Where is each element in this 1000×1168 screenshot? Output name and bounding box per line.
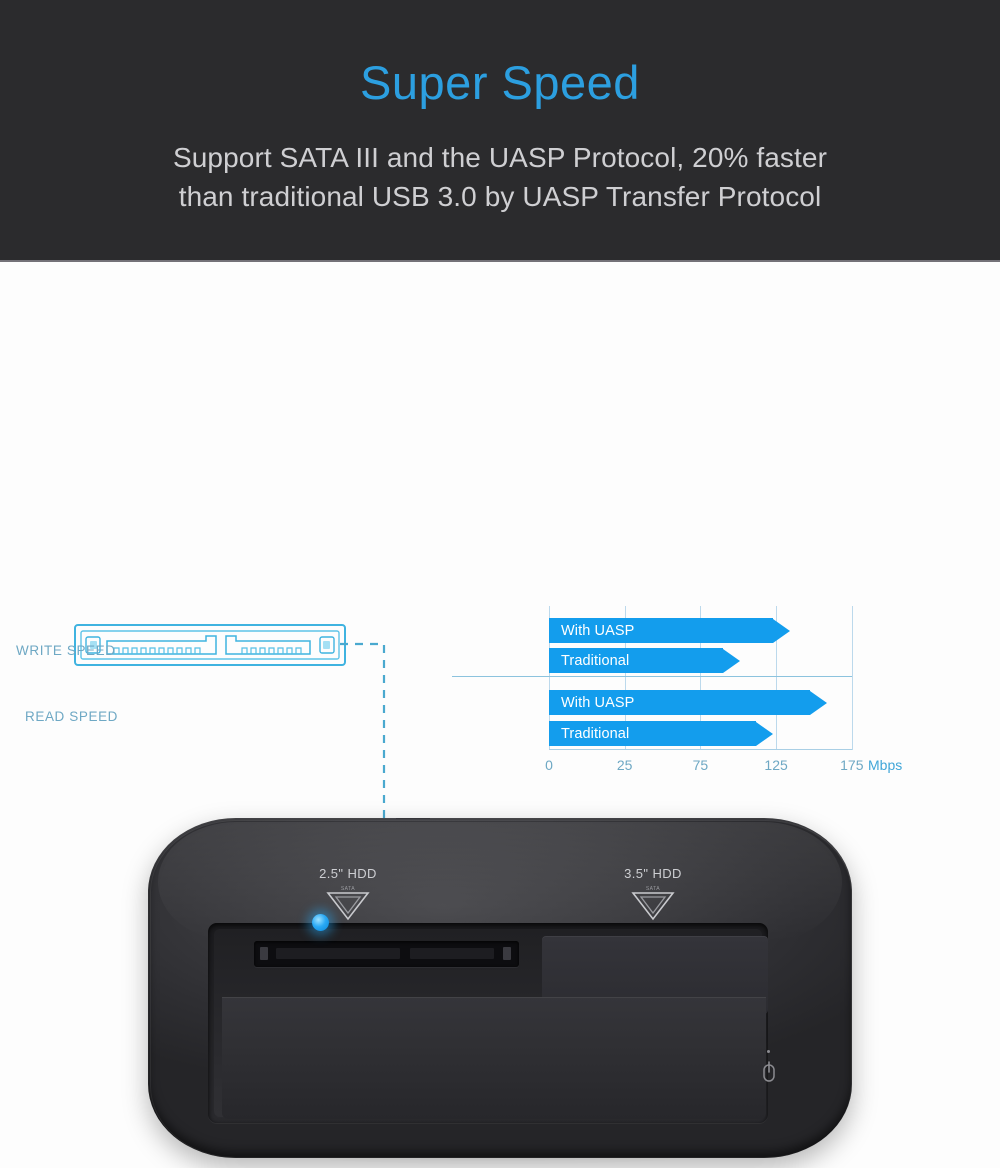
led-indicator [767,1050,770,1053]
x-tick-25: 25 [617,757,633,773]
bar-label-read-traditional: Traditional [549,726,629,742]
bar-tip-write-traditional [723,649,740,673]
x-tick-125: 125 [764,757,787,773]
hdd-docking-station: 2.5" HDD SATA 3.5" HDD SATA [148,818,852,1168]
insert-direction-triangle-icon-3-5: SATA [625,882,681,922]
svg-text:SATA: SATA [341,886,355,892]
chart-group-separator [452,676,852,677]
bar-tip-read-with-uasp [810,691,827,715]
bar-read-with-uasp: With UASP [549,690,827,715]
page-subtitle: Support SATA III and the UASP Protocol, … [90,138,910,216]
chart-category-read-speed: READ SPEED [25,709,118,724]
dock-rear-notch [396,818,430,819]
bar-label-read-with-uasp: With UASP [549,695,634,711]
power-button-icon[interactable] [761,1058,777,1086]
page-title: Super Speed [0,55,1000,110]
bar-label-write-traditional: Traditional [549,653,629,669]
x-tick-75: 75 [693,757,709,773]
subtitle-line-2: than traditional USB 3.0 by UASP Transfe… [90,177,910,216]
sata-connection-indicator-dot [312,914,329,931]
x-axis-unit-label: Mbps [868,757,902,773]
bar-label-write-with-uasp: With UASP [549,623,634,639]
sata-slot-power-segment [276,948,400,959]
svg-text:SATA: SATA [646,886,660,892]
content-area: WRITE SPEED READ SPEED With UASP Traditi… [0,262,1000,1000]
bar-tip-write-with-uasp [773,619,790,643]
bar-write-traditional: Traditional [549,648,740,673]
bar-write-with-uasp: With UASP [549,618,790,643]
label-3-5-hdd: 3.5" HDD [608,866,698,881]
sata-slot-pin-right [503,947,511,960]
insert-direction-triangle-icon-2-5: SATA [320,882,376,922]
gridline-175 [852,606,853,750]
chart-category-write-speed: WRITE SPEED [16,643,116,658]
subtitle-line-1: Support SATA III and the UASP Protocol, … [90,138,910,177]
sata-slot-pin-left [260,947,268,960]
x-tick-0: 0 [545,757,553,773]
chart-x-axis [549,749,852,750]
bar-read-traditional: Traditional [549,721,773,746]
dock-body: 2.5" HDD SATA 3.5" HDD SATA [148,818,852,1158]
header-banner: Super Speed Support SATA III and the UAS… [0,0,1000,262]
product-feature-image: Super Speed Support SATA III and the UAS… [0,0,1000,1000]
bar-tip-read-traditional [756,722,773,746]
tray-front-panel [222,997,766,1119]
hdd-tray[interactable] [208,923,768,1123]
hdd-tray-recess [214,929,762,1117]
sata-slot[interactable] [254,941,519,967]
label-2-5-hdd: 2.5" HDD [303,866,393,881]
sata-slot-data-segment [410,948,494,959]
x-tick-175: 175 [840,757,863,773]
